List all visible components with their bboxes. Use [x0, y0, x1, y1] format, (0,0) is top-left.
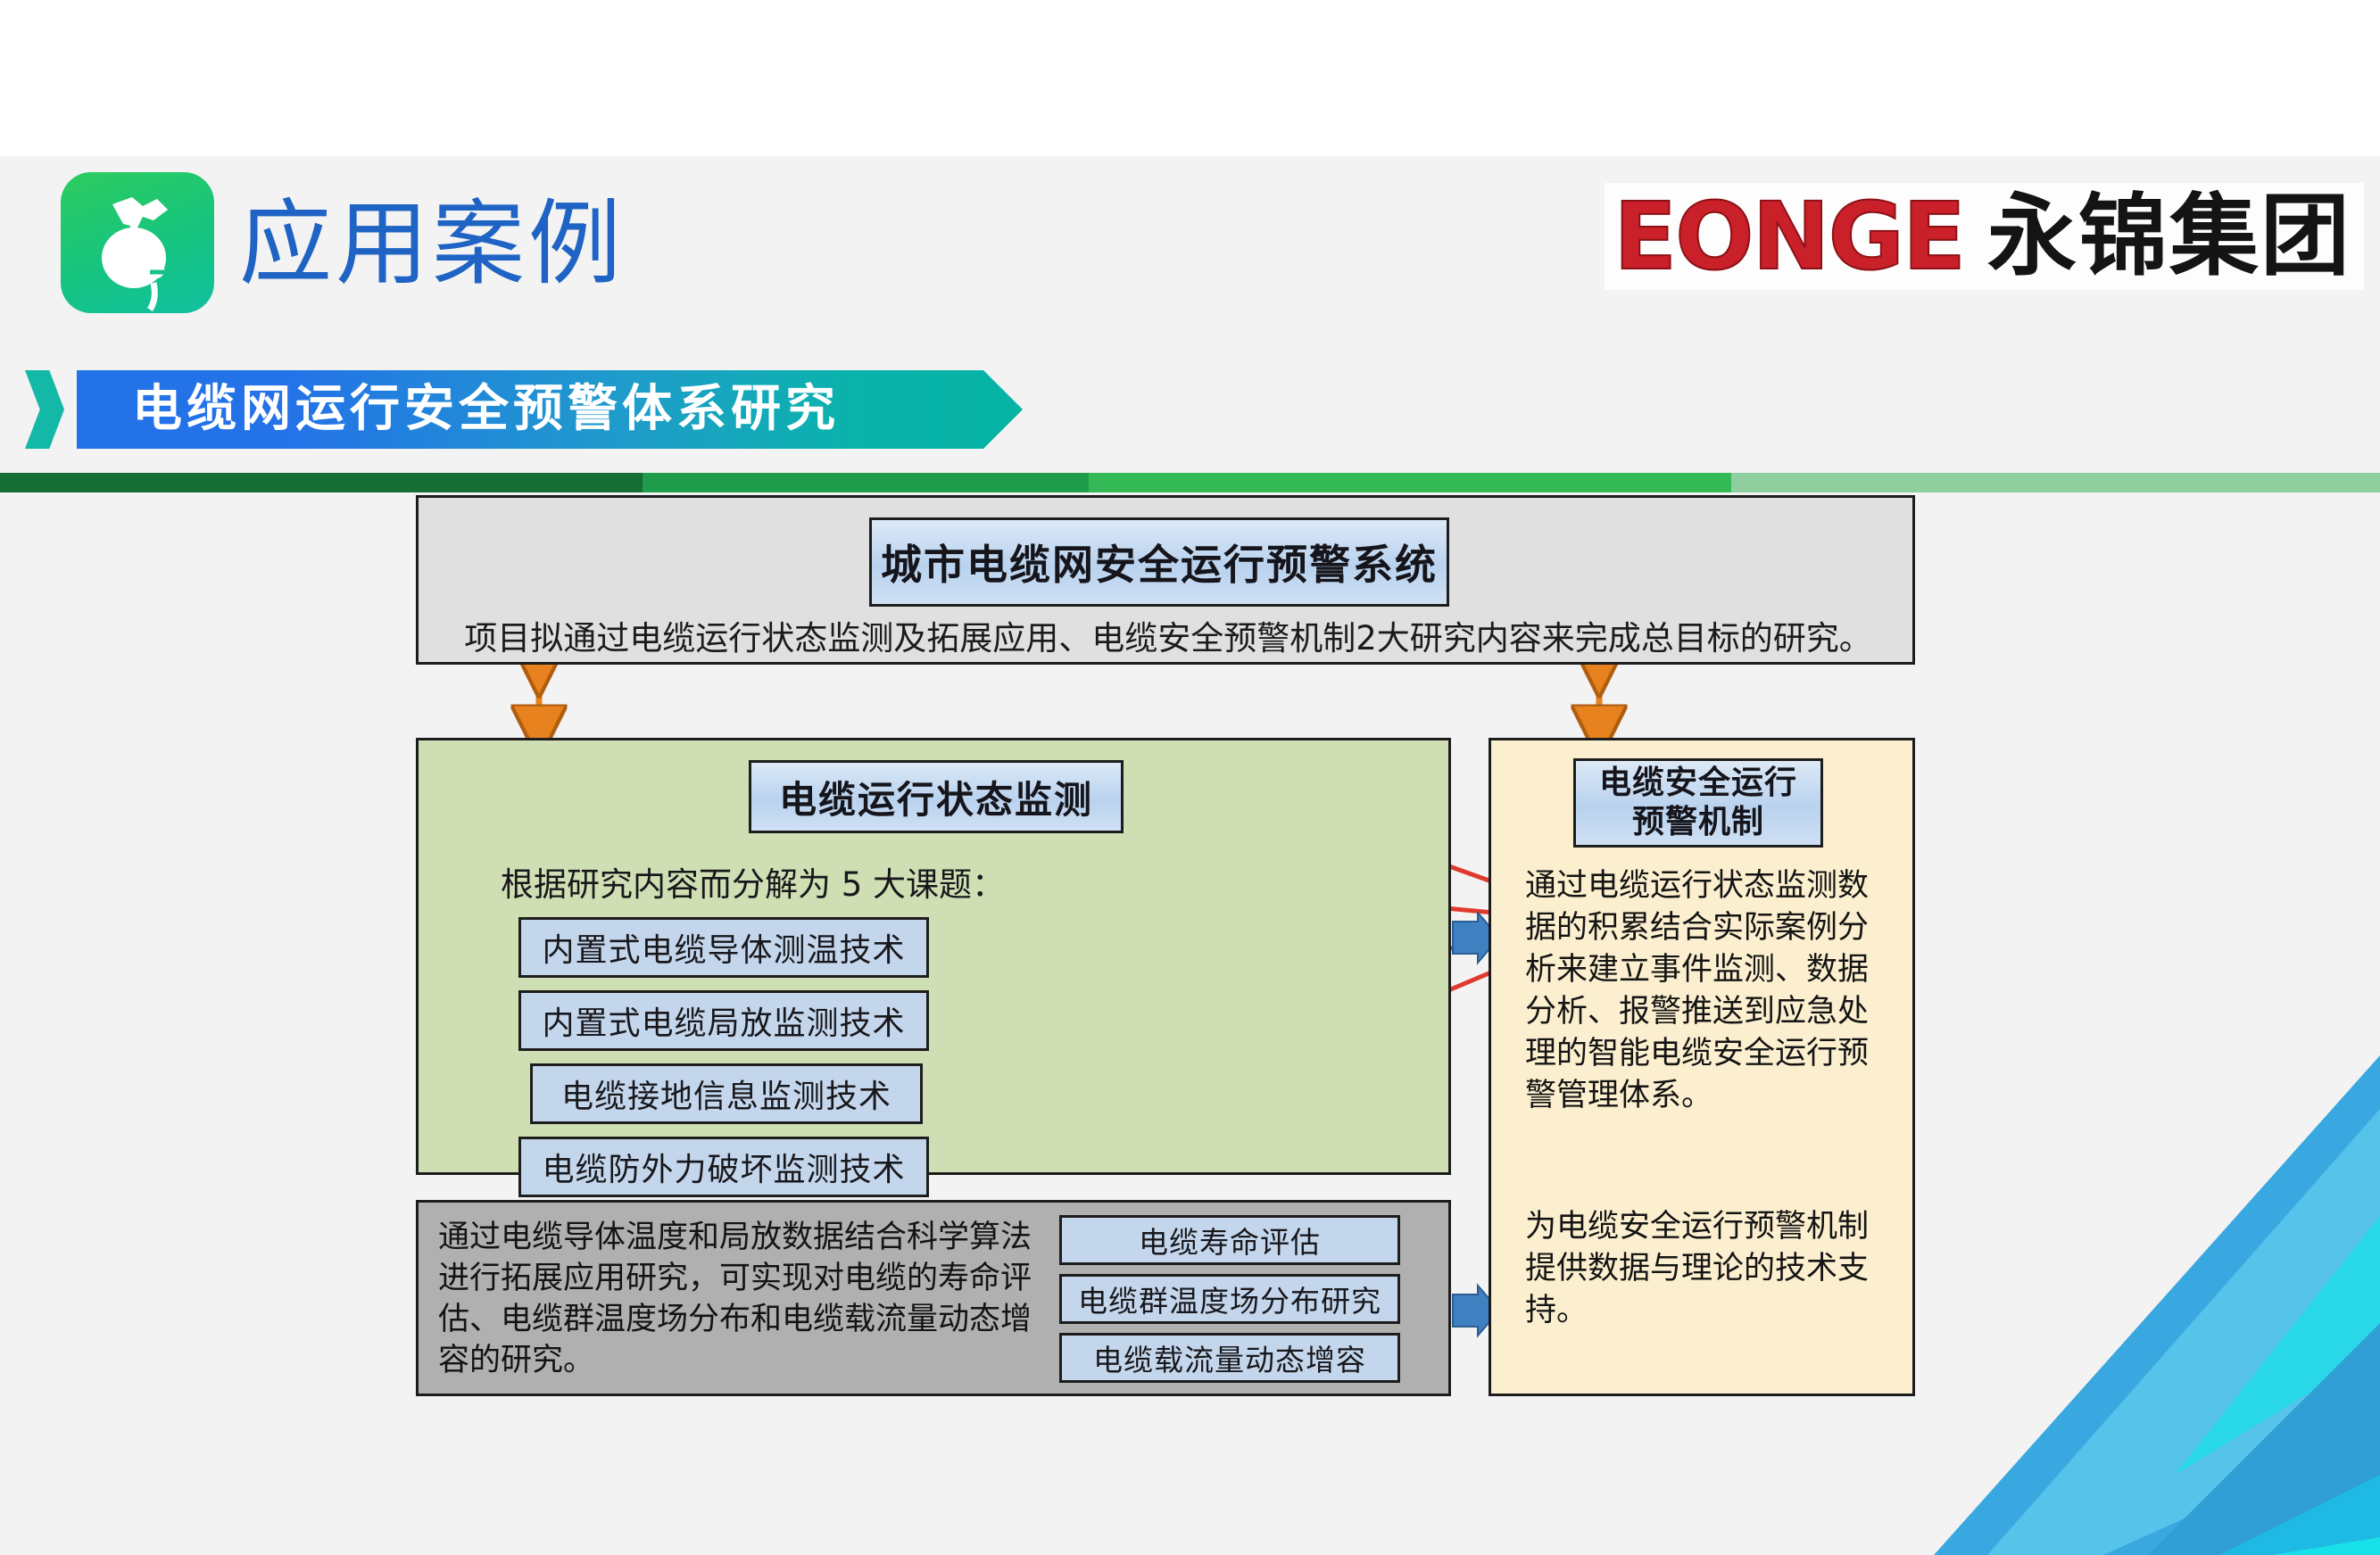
overall-goal-box: 城市电缆网安全运行预警系统 项目拟通过电缆运行状态监测及拓展应用、电缆安全预警机…	[416, 495, 1915, 665]
task-box[interactable]: 内置式电缆局放监测技术	[518, 990, 929, 1051]
slide-canvas: 应用案例 EONGE 永锦集团 电缆网运行安全预警体系研究	[0, 156, 2380, 1555]
banner-chevron-icon	[25, 370, 64, 449]
monitoring-title-box: 电缆运行状态监测	[749, 760, 1124, 833]
system-description: 项目拟通过电缆运行状态监测及拓展应用、电缆安全预警机制2大研究内容来完成总目标的…	[431, 619, 1905, 658]
subtopic-box[interactable]: 电缆载流量动态增容	[1059, 1333, 1400, 1383]
early-warning-title-line2: 预警机制	[1632, 803, 1764, 842]
brand-name-en: EONGE	[1613, 187, 1964, 285]
header-divider	[0, 473, 2380, 492]
early-warning-panel: 电缆安全运行 预警机制 通过电缆运行状态监测数据的积累结合实际案例分析来建立事件…	[1489, 738, 1915, 1396]
extended-application-panel: 通过电缆导体温度和局放数据结合科学算法进行拓展应用研究，可实现对电缆的寿命评估、…	[416, 1200, 1451, 1396]
banner-title: 电缆网运行安全预警体系研究	[132, 383, 840, 436]
extended-application-description: 通过电缆导体温度和局放数据结合科学算法进行拓展应用研究，可实现对电缆的寿命评估、…	[438, 1217, 1054, 1381]
task-box[interactable]: 内置式电缆导体测温技术	[518, 917, 929, 978]
decorative-polygons	[1880, 1055, 2380, 1555]
banner-body: 电缆网运行安全预警体系研究	[77, 370, 1023, 449]
early-warning-body-top: 通过电缆运行状态监测数据的积累结合实际案例分析来建立事件监测、数据分析、报警推送…	[1525, 865, 1893, 1117]
monitoring-panel: 电缆运行状态监测 根据研究内容而分解为 5 大课题： 内置式电缆导体测温技术 内…	[416, 738, 1451, 1175]
brand-name-cn: 永锦集团	[1987, 188, 2351, 285]
page-title: 应用案例	[239, 178, 625, 310]
monitoring-subtitle: 根据研究内容而分解为 5 大课题：	[501, 865, 1005, 905]
early-warning-body-bottom: 为电缆安全运行预警机制提供数据与理论的技术支持。	[1525, 1206, 1893, 1332]
early-warning-title-line1: 电缆安全运行	[1599, 764, 1797, 803]
brand-logo: EONGE 永锦集团	[1605, 183, 2364, 290]
task-box[interactable]: 电缆接地信息监测技术	[530, 1063, 923, 1124]
subtopic-box[interactable]: 电缆群温度场分布研究	[1059, 1274, 1400, 1324]
system-diagram: 城市电缆网安全运行预警系统 项目拟通过电缆运行状态监测及拓展应用、电缆安全预警机…	[416, 495, 1915, 1396]
slide-page: 应用案例 EONGE 永锦集团 电缆网运行安全预警体系研究	[0, 0, 2380, 1555]
subtopic-box[interactable]: 电缆寿命评估	[1059, 1215, 1400, 1265]
early-warning-title-box: 电缆安全运行 预警机制	[1573, 758, 1823, 848]
task-box[interactable]: 电缆防外力破坏监测技术	[518, 1137, 929, 1197]
china-map-leaf-icon	[61, 172, 214, 313]
slide-header: 应用案例 EONGE 永锦集团	[0, 156, 2380, 315]
system-title-box: 城市电缆网安全运行预警系统	[869, 517, 1449, 607]
